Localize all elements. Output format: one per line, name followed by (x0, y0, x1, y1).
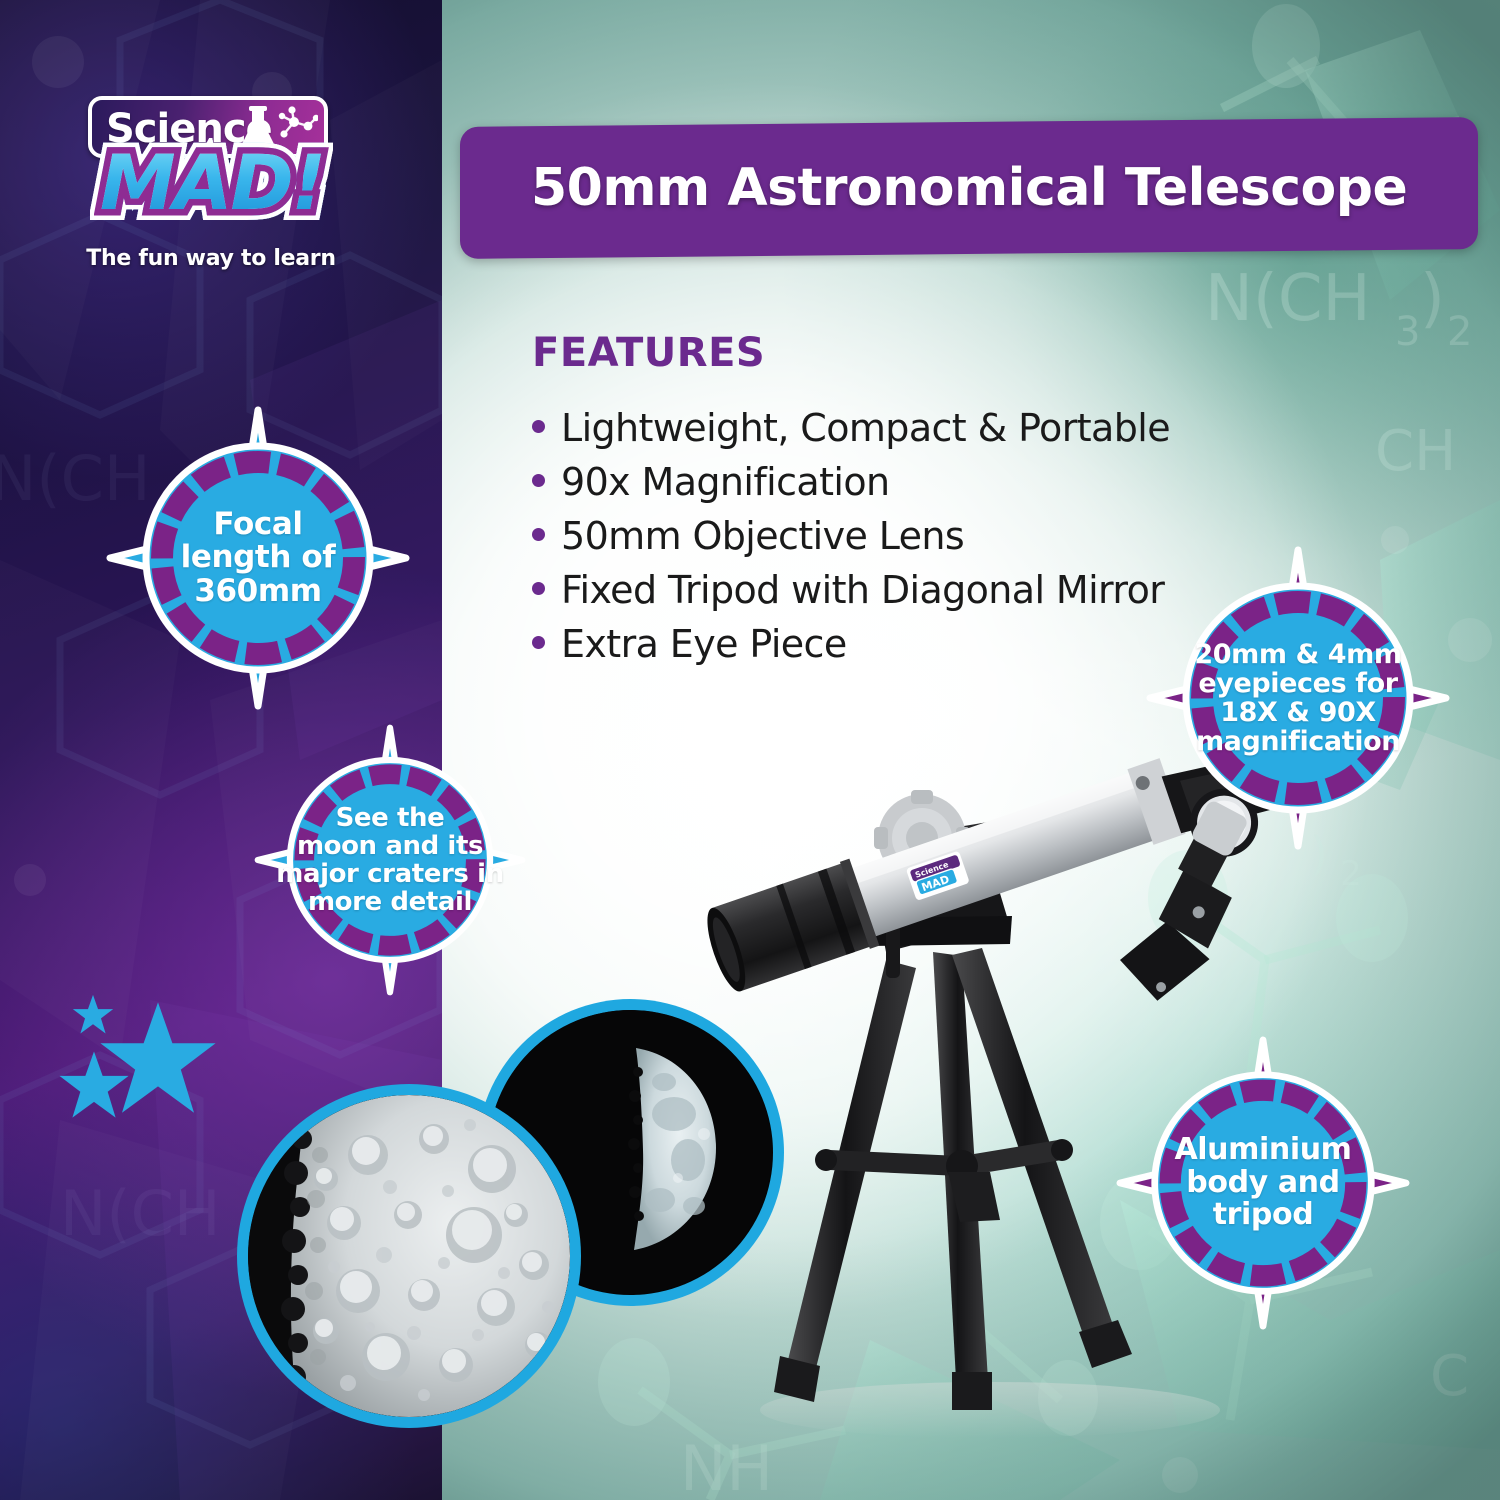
bullet-icon (532, 582, 545, 595)
bullet-icon (532, 420, 545, 433)
brand-logo: Science ® MAD! MAD! MAD! (78, 96, 340, 276)
features-heading: FEATURES (532, 330, 1252, 376)
feature-item: 90x Magnification (532, 456, 1252, 510)
bullet-icon (532, 528, 545, 541)
logo-mad-text: MAD! (100, 138, 326, 227)
feature-item: Extra Eye Piece (532, 618, 1252, 672)
product-title-banner: 50mm Astronomical Telescope (460, 117, 1478, 259)
page-title: 50mm Astronomical Telescope (531, 158, 1407, 218)
badge-moon-craters: See themoon and itsmajor craters inmore … (256, 726, 524, 994)
logo-mad-wordmark: MAD! MAD! MAD! (100, 138, 326, 230)
feature-label: Fixed Tripod with Diagonal Mirror (561, 564, 1164, 618)
badge-focal-length: Focallength of360mm (108, 408, 408, 708)
feature-label: 50mm Objective Lens (561, 510, 964, 564)
bullet-icon (532, 636, 545, 649)
star-small-icon (72, 994, 114, 1036)
features-section: FEATURES Lightweight, Compact & Portable… (532, 330, 1252, 672)
badge-aluminium-body: Aluminiumbody andtripod (1118, 1038, 1408, 1328)
bullet-icon (532, 474, 545, 487)
badge-eyepieces: 20mm & 4mmeyepieces for18X & 90Xmagnific… (1148, 548, 1448, 848)
svg-text:N(CH: N(CH (60, 1177, 220, 1250)
star-medium-icon (58, 1050, 130, 1122)
feature-label: Extra Eye Piece (561, 618, 847, 672)
feature-item: Fixed Tripod with Diagonal Mirror (532, 564, 1252, 618)
moon-craters-closeup-photo (248, 1095, 570, 1417)
features-list: Lightweight, Compact & Portable90x Magni… (532, 402, 1252, 672)
feature-item: 50mm Objective Lens (532, 510, 1252, 564)
logo-tagline: The fun way to learn (86, 246, 336, 271)
feature-label: Lightweight, Compact & Portable (561, 402, 1170, 456)
feature-item: Lightweight, Compact & Portable (532, 402, 1252, 456)
feature-label: 90x Magnification (561, 456, 889, 510)
